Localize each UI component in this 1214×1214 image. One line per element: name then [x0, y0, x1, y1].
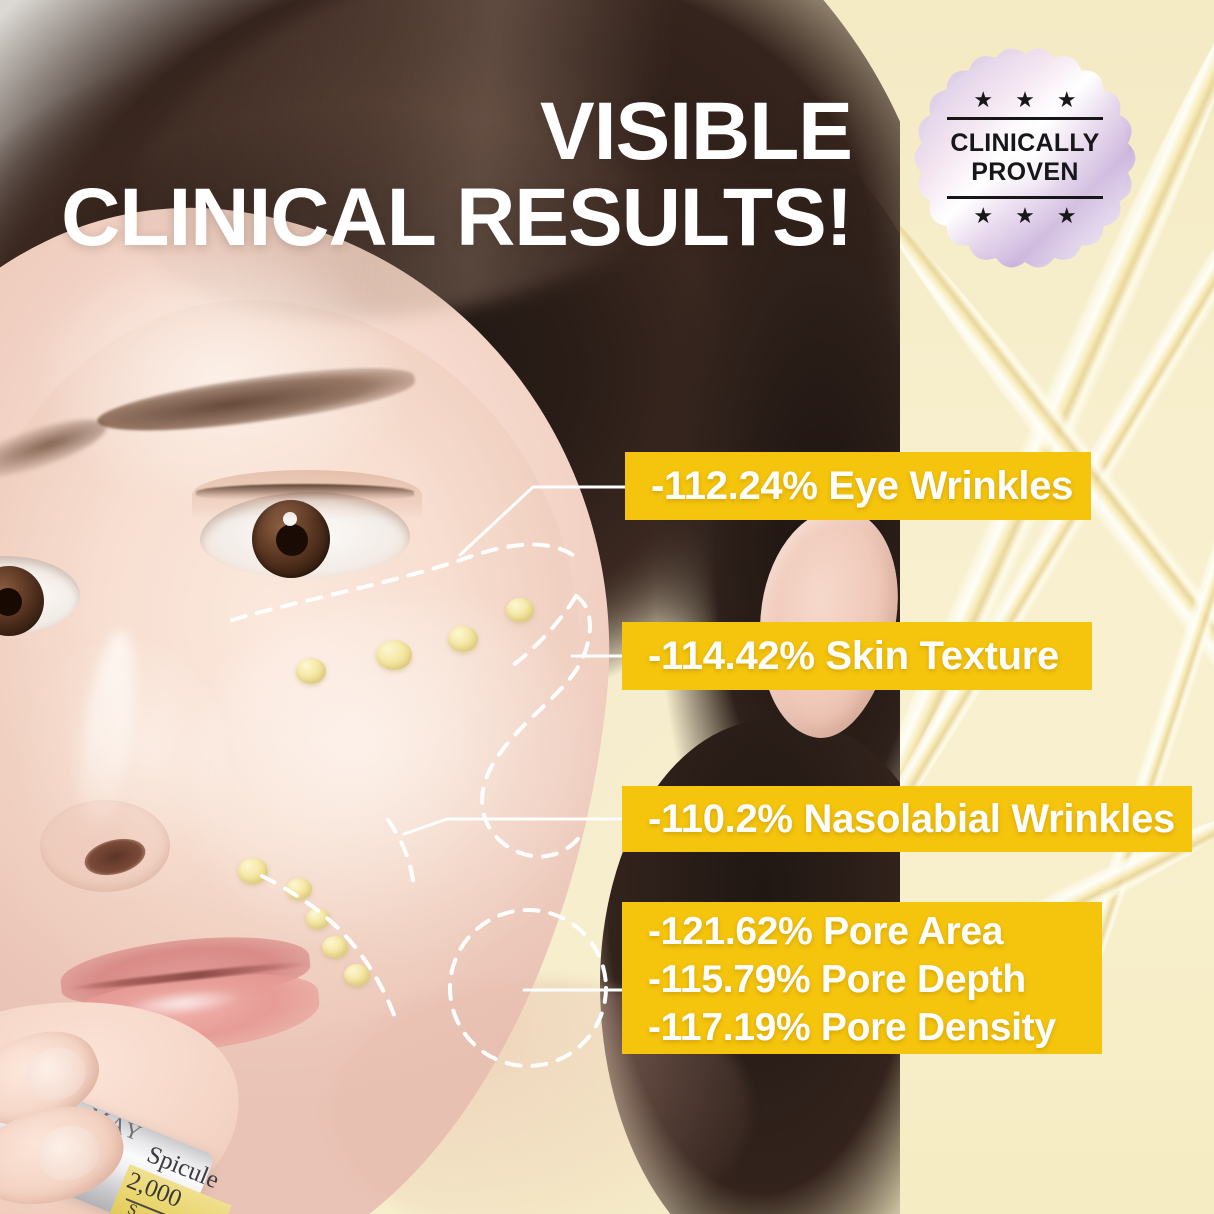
star-icon: ★	[1015, 205, 1035, 227]
clinically-proven-badge: ★ ★ ★ CLINICALLY PROVEN ★ ★ ★	[905, 38, 1145, 278]
callout-eye-wrinkles: -112.24% Eye Wrinkles	[625, 452, 1091, 520]
star-icon: ★	[973, 205, 993, 227]
star-icon: ★	[973, 89, 993, 111]
badge-label-line-1: CLINICALLY	[950, 130, 1099, 157]
model-eyelash-right	[196, 484, 414, 500]
headline: VISIBLE CLINICAL RESULTS!	[0, 92, 880, 259]
serum-droplet	[296, 658, 326, 684]
callout-line: -110.2% Nasolabial Wrinkles	[648, 797, 1166, 842]
serum-droplet	[448, 626, 478, 652]
star-icon: ★	[1057, 205, 1077, 227]
serum-droplet	[506, 598, 534, 622]
headline-line-1: VISIBLE	[0, 92, 852, 172]
callout-line: -114.42% Skin Texture	[648, 634, 1066, 679]
serum-droplet	[306, 908, 330, 929]
badge-content: ★ ★ ★ CLINICALLY PROVEN ★ ★ ★	[905, 38, 1145, 278]
serum-droplet	[238, 858, 268, 884]
badge-stars-bottom: ★ ★ ★	[973, 205, 1076, 227]
callout-line: -115.79% Pore Depth	[648, 958, 1076, 1002]
badge-label-line-2: PROVEN	[971, 159, 1078, 186]
badge-rule-bottom	[947, 196, 1103, 199]
badge-label: CLINICALLY PROVEN	[950, 130, 1099, 186]
callout-line: -112.24% Eye Wrinkles	[651, 464, 1065, 509]
headline-line-2: CLINICAL RESULTS!	[0, 178, 852, 258]
callout-pore-metrics: -121.62% Pore Area -115.79% Pore Depth -…	[622, 902, 1102, 1054]
star-icon: ★	[1057, 89, 1077, 111]
serum-droplet	[322, 936, 348, 958]
star-icon: ★	[1015, 89, 1035, 111]
badge-rule-top	[947, 117, 1103, 120]
model-pupil-right	[276, 524, 308, 556]
callout-line: -121.62% Pore Area	[648, 910, 1076, 954]
callout-line: -117.19% Pore Density	[648, 1006, 1076, 1050]
serum-droplet	[344, 964, 370, 986]
poster-canvas: MARY & MAY Spicule 2,000 S	[0, 0, 1214, 1214]
serum-droplet	[376, 640, 412, 670]
callout-nasolabial-wrinkles: -110.2% Nasolabial Wrinkles	[622, 786, 1192, 852]
badge-stars-top: ★ ★ ★	[973, 89, 1076, 111]
serum-droplet	[286, 878, 312, 900]
callout-skin-texture: -114.42% Skin Texture	[622, 622, 1092, 690]
